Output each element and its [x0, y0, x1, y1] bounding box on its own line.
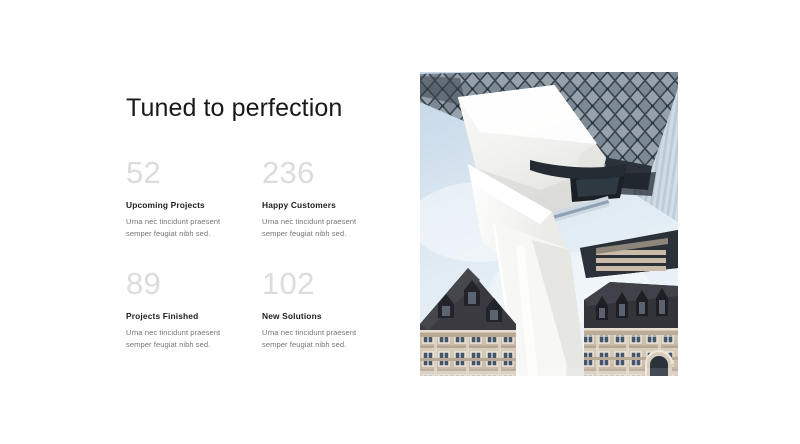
stat-item: 236 Happy Customers Urna nec tincidunt p…: [262, 157, 394, 241]
stat-label: Happy Customers: [262, 200, 394, 210]
stat-number: 102: [262, 268, 394, 299]
stat-label: Upcoming Projects: [126, 200, 258, 210]
architecture-photo: [420, 72, 678, 376]
stat-label: Projects Finished: [126, 311, 258, 321]
stat-number: 89: [126, 268, 258, 299]
stats-content: Tuned to perfection 52 Upcoming Projects…: [126, 94, 391, 352]
slide-root: Tuned to perfection 52 Upcoming Projects…: [0, 0, 800, 444]
stat-description: Urna nec tincidunt praesent semper feugi…: [126, 216, 244, 241]
stat-item: 102 New Solutions Urna nec tincidunt pra…: [262, 268, 394, 352]
page-title: Tuned to perfection: [126, 94, 391, 123]
stat-item: 89 Projects Finished Urna nec tincidunt …: [126, 268, 258, 352]
stat-description: Urna nec tincidunt praesent semper feugi…: [262, 327, 380, 352]
stat-number: 52: [126, 157, 258, 188]
stat-description: Urna nec tincidunt praesent semper feugi…: [126, 327, 244, 352]
stat-item: 52 Upcoming Projects Urna nec tincidunt …: [126, 157, 258, 241]
stat-number: 236: [262, 157, 394, 188]
stat-description: Urna nec tincidunt praesent semper feugi…: [262, 216, 380, 241]
stats-grid: 52 Upcoming Projects Urna nec tincidunt …: [126, 157, 391, 352]
stat-label: New Solutions: [262, 311, 394, 321]
